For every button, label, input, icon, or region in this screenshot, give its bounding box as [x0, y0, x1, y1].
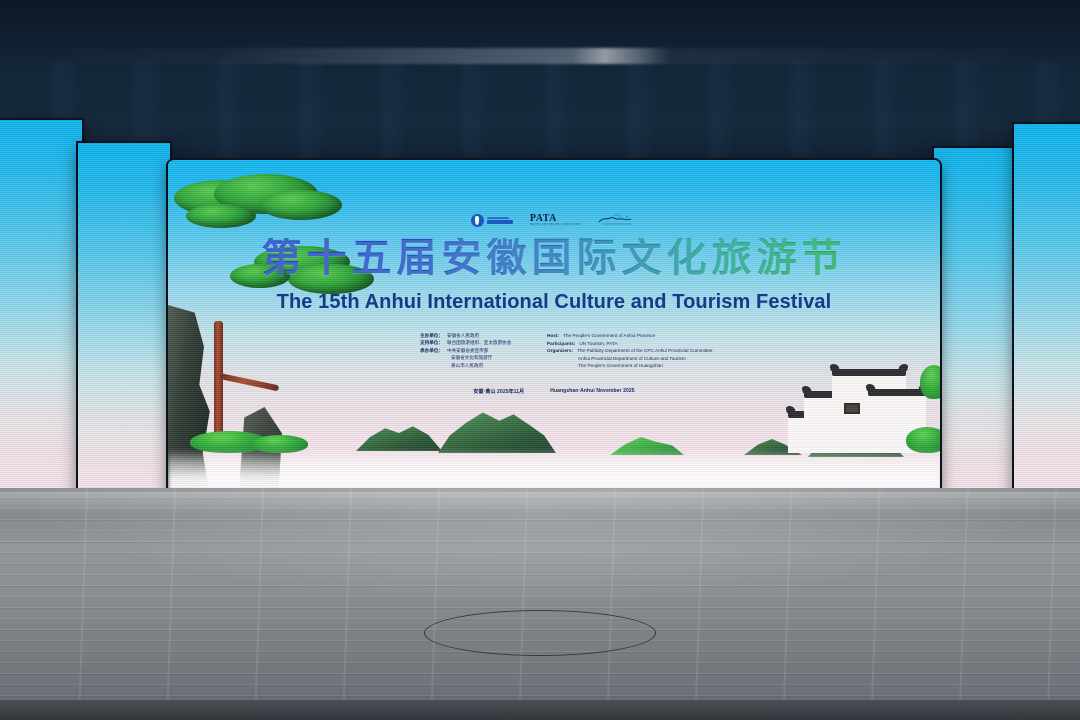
sponsor-logo-row: PATA PACIFIC ASIA TRAVEL ASSOCIATION	[168, 210, 940, 230]
led-scanlines	[934, 148, 1016, 540]
date-place-chinese: 安徽·黄山 2025年11月	[473, 388, 524, 395]
led-panel-left-inner	[78, 143, 170, 543]
credit-row: 主办单位： 安徽省人民政府	[420, 332, 528, 339]
credit-label: Organizers:	[547, 347, 573, 355]
credit-row-sub: The People's Government of Huangshan	[547, 362, 713, 370]
stage-apron	[0, 700, 1080, 720]
pata-logo: PATA PACIFIC ASIA TRAVEL ASSOCIATION	[530, 214, 580, 227]
floor-sheen	[0, 488, 1080, 618]
led-scanlines	[0, 120, 82, 540]
credit-row: Host: The People's Government of Anhui P…	[547, 332, 713, 340]
house-window	[844, 403, 860, 414]
credit-label: 支持单位：	[420, 339, 443, 346]
credit-row: Organizers: The Publicity Department of …	[547, 347, 713, 355]
credit-label: 承办单位：	[420, 347, 443, 354]
un-tourism-icon	[471, 214, 484, 227]
credit-value: 中共安徽省委宣传部	[447, 347, 488, 354]
gable-roof	[832, 369, 906, 376]
credit-label: 主办单位：	[420, 332, 443, 339]
led-scanlines	[1014, 124, 1080, 540]
credit-row-sub: 安徽省文化和旅游厅	[420, 354, 528, 361]
festival-title-chinese: 第十五届安徽国际文化旅游节	[168, 238, 940, 278]
un-tourism-wordmark	[487, 217, 513, 224]
stage-screenshot: PATA PACIFIC ASIA TRAVEL ASSOCIATION 第十五…	[0, 0, 1080, 720]
credit-row: 支持单位： 联合国旅游组织、亚太旅游协会	[420, 339, 528, 346]
led-panel-right-outer	[1014, 124, 1080, 540]
led-panel-right-inner	[934, 148, 1016, 540]
credit-row: Participants: UN Tourism, PATA	[547, 340, 713, 348]
credit-value: 联合国旅游组织、亚太旅游协会	[447, 339, 511, 346]
un-tourism-logo	[471, 214, 513, 227]
led-scanlines	[78, 143, 170, 543]
credit-value: 黄山市人民政府	[451, 362, 483, 369]
credits-chinese-column: 主办单位： 安徽省人民政府 支持单位： 联合国旅游组织、亚太旅游协会 承办单位：…	[420, 332, 528, 370]
date-place-bar: 安徽·黄山 2025年11月 Huangshan·Anhui November …	[168, 388, 940, 395]
stage-turntable-circle	[424, 610, 656, 656]
pata-tagline: PACIFIC ASIA TRAVEL ASSOCIATION	[530, 224, 580, 227]
festival-title-english: The 15th Anhui International Culture and…	[168, 291, 940, 314]
credit-row-sub: 黄山市人民政府	[420, 362, 528, 369]
credit-value: The People's Government of Anhui Provinc…	[563, 332, 655, 340]
credit-value: Anhui Provincial Department of Culture a…	[578, 355, 686, 363]
credit-value: The People's Government of Huangshan	[578, 362, 663, 370]
anhui-logo-glyph	[597, 213, 637, 228]
credit-value: 安徽省文化和旅游厅	[451, 354, 492, 361]
credit-label: Participants:	[547, 340, 575, 348]
main-led-backdrop: PATA PACIFIC ASIA TRAVEL ASSOCIATION 第十五…	[168, 160, 940, 495]
credit-row: 承办单位： 中共安徽省委宣传部	[420, 347, 528, 354]
credits-english-column: Host: The People's Government of Anhui P…	[547, 332, 713, 370]
led-panel-left-outer	[0, 120, 82, 540]
stage-floor	[0, 488, 1080, 720]
credit-value: The Publicity Department of the CPC Anhu…	[577, 347, 712, 355]
anhui-culture-tourism-logo	[597, 213, 637, 228]
credit-row-sub: Anhui Provincial Department of Culture a…	[547, 355, 713, 363]
credits-block: 主办单位： 安徽省人民政府 支持单位： 联合国旅游组织、亚太旅游协会 承办单位：…	[420, 332, 713, 370]
credit-label: Host:	[547, 332, 559, 340]
credit-value: UN Tourism, PATA	[579, 340, 617, 348]
credit-value: 安徽省人民政府	[447, 332, 479, 339]
date-place-english: Huangshan·Anhui November 2025	[550, 388, 634, 395]
